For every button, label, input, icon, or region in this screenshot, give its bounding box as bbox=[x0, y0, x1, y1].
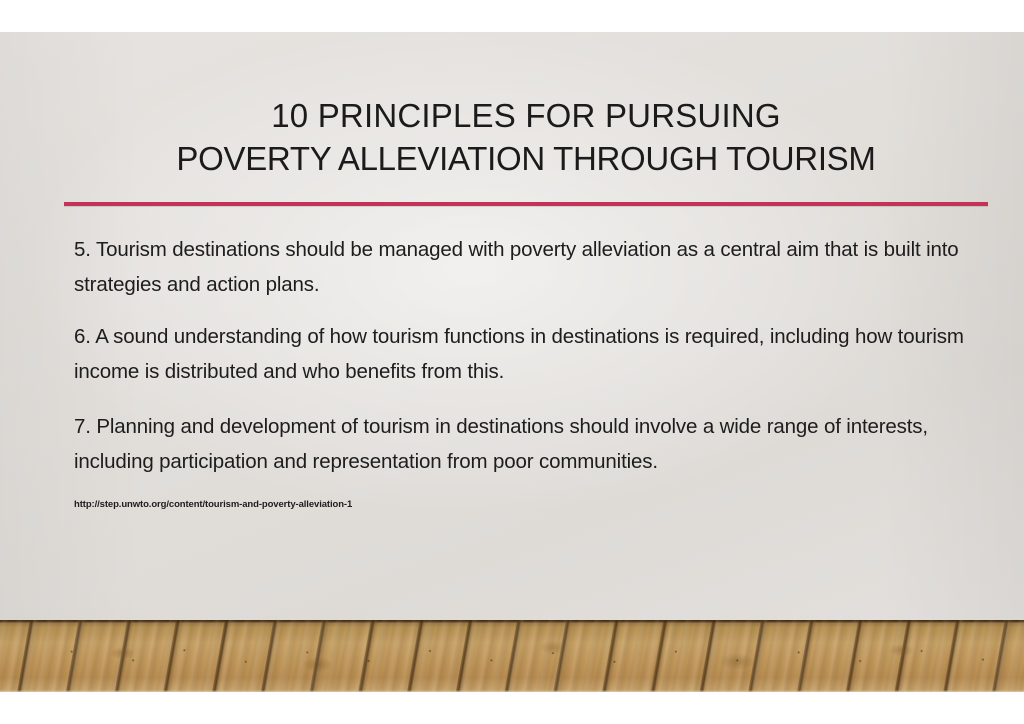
floor-nail-dots bbox=[0, 620, 1024, 692]
page-title: 10 PRINCIPLES FOR PURSUING POVERTY ALLEV… bbox=[62, 94, 990, 180]
title-divider-rule bbox=[64, 202, 988, 206]
title-line-2: POVERTY ALLEVIATION THROUGH TOURISM bbox=[62, 137, 990, 180]
presentation-slide: 10 PRINCIPLES FOR PURSUING POVERTY ALLEV… bbox=[0, 32, 1024, 692]
principle-paragraph-6: 6. A sound understanding of how tourism … bbox=[74, 319, 964, 389]
principle-paragraph-7: 7. Planning and development of tourism i… bbox=[74, 409, 964, 479]
slide-body: 5. Tourism destinations should be manage… bbox=[74, 232, 964, 499]
title-line-1: 10 PRINCIPLES FOR PURSUING bbox=[62, 94, 990, 137]
source-url-text: http://step.unwto.org/content/tourism-an… bbox=[74, 499, 352, 511]
principle-paragraph-5: 5. Tourism destinations should be manage… bbox=[74, 232, 964, 302]
floor-bottom-edge bbox=[0, 690, 1024, 692]
slide-frame: 10 PRINCIPLES FOR PURSUING POVERTY ALLEV… bbox=[0, 0, 1024, 724]
wood-floor-graphic bbox=[0, 620, 1024, 692]
